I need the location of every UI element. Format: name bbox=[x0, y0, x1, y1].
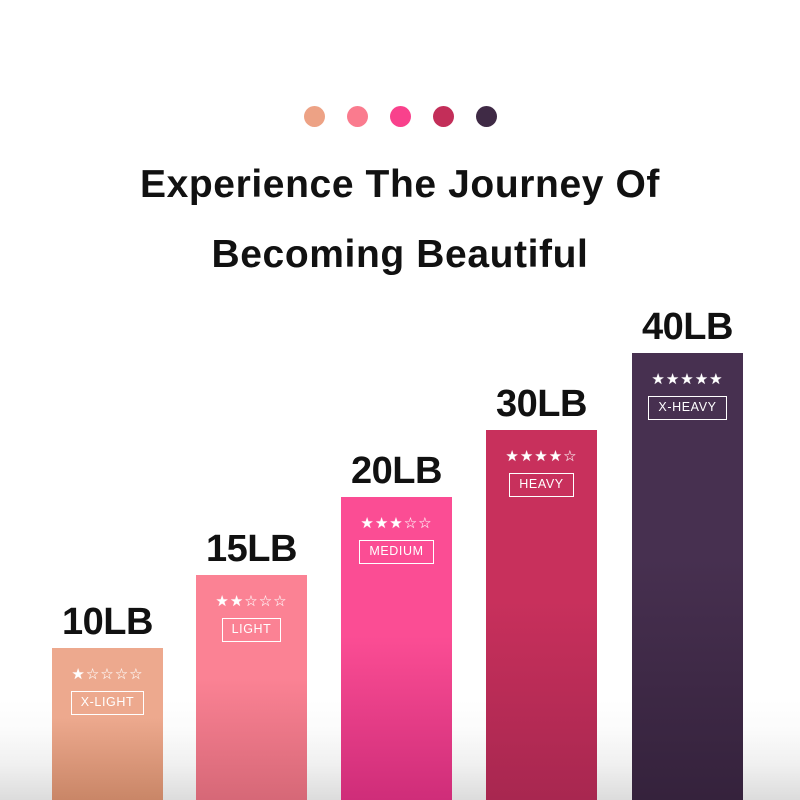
star-rating-icon: ★★★★☆ bbox=[505, 448, 577, 466]
star-rating-icon: ★☆☆☆☆ bbox=[71, 666, 143, 684]
resistance-level-badge: LIGHT bbox=[222, 618, 282, 642]
bar-value-label: 30LB bbox=[496, 383, 587, 426]
bar-value-label: 15LB bbox=[206, 528, 297, 571]
bar-group-10lb[interactable]: 10LB★☆☆☆☆X-LIGHT bbox=[52, 648, 163, 800]
bar-group-15lb[interactable]: 15LB★★☆☆☆LIGHT bbox=[196, 575, 307, 800]
bar-30lb[interactable]: ★★★★☆HEAVY bbox=[486, 430, 597, 800]
bar-20lb[interactable]: ★★★☆☆MEDIUM bbox=[341, 497, 452, 800]
bar-group-40lb[interactable]: 40LB★★★★★X-HEAVY bbox=[632, 353, 743, 800]
star-rating-icon: ★★☆☆☆ bbox=[215, 593, 287, 611]
resistance-level-badge: X-LIGHT bbox=[71, 691, 145, 715]
bar-40lb[interactable]: ★★★★★X-HEAVY bbox=[632, 353, 743, 800]
star-rating-icon: ★★★☆☆ bbox=[360, 515, 432, 533]
resistance-level-badge: X-HEAVY bbox=[648, 396, 726, 420]
bar-value-label: 10LB bbox=[62, 601, 153, 644]
bar-15lb[interactable]: ★★☆☆☆LIGHT bbox=[196, 575, 307, 800]
resistance-level-badge: HEAVY bbox=[509, 473, 573, 497]
bar-value-label: 40LB bbox=[642, 306, 733, 349]
resistance-level-badge: MEDIUM bbox=[359, 540, 433, 564]
star-rating-icon: ★★★★★ bbox=[651, 371, 723, 389]
bar-group-30lb[interactable]: 30LB★★★★☆HEAVY bbox=[486, 430, 597, 800]
resistance-bar-chart: 10LB★☆☆☆☆X-LIGHT15LB★★☆☆☆LIGHT20LB★★★☆☆M… bbox=[0, 0, 800, 800]
poster-canvas: Experience The Journey Of Becoming Beaut… bbox=[0, 0, 800, 800]
bar-value-label: 20LB bbox=[351, 450, 442, 493]
bar-10lb[interactable]: ★☆☆☆☆X-LIGHT bbox=[52, 648, 163, 800]
bar-group-20lb[interactable]: 20LB★★★☆☆MEDIUM bbox=[341, 497, 452, 800]
